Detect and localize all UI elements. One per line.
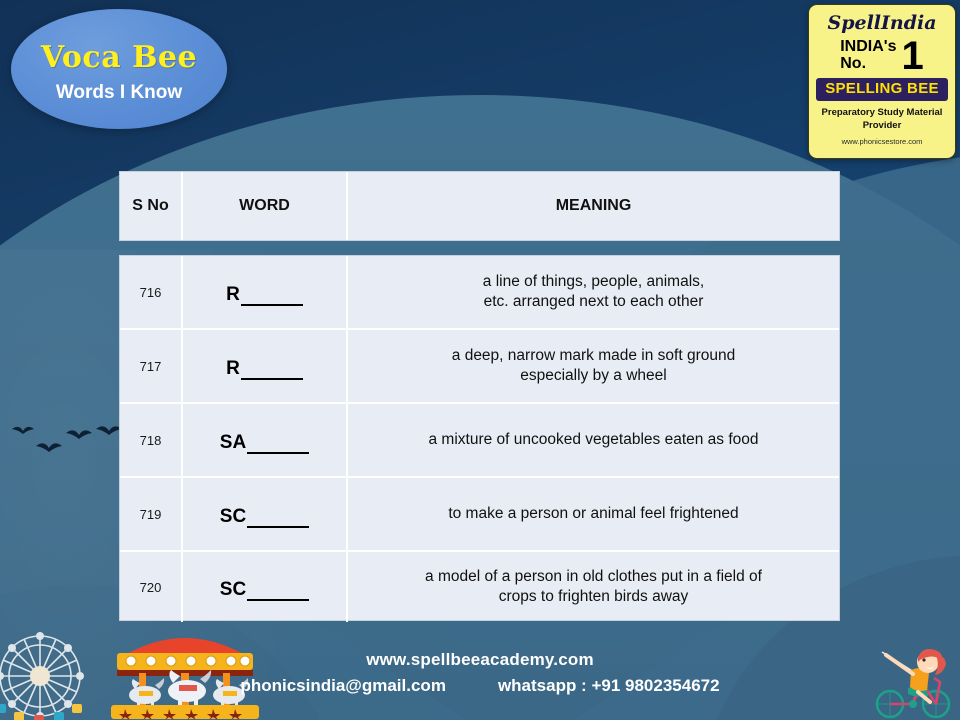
badge-indias: INDIA's: [840, 39, 896, 56]
word-prefix: SC: [220, 579, 246, 601]
footer: www.spellbeeacademy.com phonicsindia@gma…: [0, 650, 960, 696]
cell-sno: 720: [120, 552, 183, 622]
table-row: 716Ra line of things, people, animals,et…: [120, 256, 839, 330]
badge-url: www.phonicsestore.com: [842, 137, 923, 146]
meaning-line: especially by a wheel: [452, 366, 735, 386]
cell-meaning: to make a person or animal feel frighten…: [348, 478, 839, 550]
cell-word: SC: [183, 478, 348, 550]
meaning-line: etc. arranged next to each other: [483, 292, 704, 312]
badge-spelling-bee-banner: SPELLING BEE: [816, 78, 948, 101]
column-header-meaning: MEANING: [348, 172, 839, 240]
meaning-line: to make a person or animal feel frighten…: [448, 504, 738, 524]
table-row: 720SCa model of a person in old clothes …: [120, 552, 839, 622]
badge-no: No.: [840, 56, 896, 73]
logo-badge: Voca Bee Words I Know: [11, 9, 227, 129]
cell-meaning: a line of things, people, animals,etc. a…: [348, 256, 839, 328]
table-header: S No WORD MEANING: [119, 171, 840, 241]
badge-rank-label: INDIA's No.: [840, 39, 896, 73]
cell-word: R: [183, 256, 348, 328]
cell-word: R: [183, 330, 348, 402]
meaning-line: a deep, narrow mark made in soft ground: [452, 346, 735, 366]
meaning-line: crops to frighten birds away: [425, 587, 762, 607]
meaning-line: a line of things, people, animals,: [483, 272, 704, 292]
footer-whatsapp[interactable]: whatsapp : +91 9802354672: [498, 676, 720, 696]
table-row: 718SAa mixture of uncooked vegetables ea…: [120, 404, 839, 478]
word-prefix: R: [226, 284, 240, 306]
logo-title: Voca Bee: [41, 43, 197, 73]
column-header-sno: S No: [120, 172, 183, 240]
word-prefix: SC: [220, 506, 246, 528]
word-blank: [247, 512, 309, 528]
badge-prep-line1: Preparatory Study Material: [822, 107, 943, 120]
cell-word: SA: [183, 404, 348, 476]
word-blank: [247, 585, 309, 601]
table-row: 717Ra deep, narrow mark made in soft gro…: [120, 330, 839, 404]
word-blank: [247, 438, 309, 454]
cell-word: SC: [183, 552, 348, 622]
birds-icon: [10, 415, 125, 465]
table-body: 716Ra line of things, people, animals,et…: [119, 255, 840, 621]
column-header-word: WORD: [183, 172, 348, 240]
cell-meaning: a model of a person in old clothes put i…: [348, 552, 839, 622]
table-row: 719SCto make a person or animal feel fri…: [120, 478, 839, 552]
word-blank: [241, 364, 303, 380]
footer-email[interactable]: phonicsindia@gmail.com: [240, 676, 446, 696]
logo-subtitle: Words I Know: [56, 83, 182, 102]
badge-rank-group: INDIA's No. 1: [809, 39, 955, 73]
cell-sno: 716: [120, 256, 183, 328]
cell-sno: 718: [120, 404, 183, 476]
badge-spelling-bee-text: SPELLING BEE: [825, 80, 939, 97]
meaning-line: a mixture of uncooked vegetables eaten a…: [428, 430, 758, 450]
word-prefix: R: [226, 358, 240, 380]
badge-brand: SpellIndia: [827, 13, 936, 34]
badge-rank-number: 1: [902, 39, 924, 73]
badge-prep-line2: Provider: [822, 120, 943, 133]
footer-contact-line: phonicsindia@gmail.com whatsapp : +91 98…: [0, 676, 960, 696]
word-prefix: SA: [220, 432, 246, 454]
slide: Voca Bee Words I Know SpellIndia INDIA's…: [0, 0, 960, 720]
spellindia-badge: SpellIndia INDIA's No. 1 SPELLING BEE Pr…: [808, 4, 956, 159]
cell-meaning: a deep, narrow mark made in soft grounde…: [348, 330, 839, 402]
meaning-line: a model of a person in old clothes put i…: [425, 567, 762, 587]
badge-prep-text: Preparatory Study Material Provider: [822, 107, 943, 133]
cell-sno: 717: [120, 330, 183, 402]
word-blank: [241, 290, 303, 306]
cell-meaning: a mixture of uncooked vegetables eaten a…: [348, 404, 839, 476]
cell-sno: 719: [120, 478, 183, 550]
footer-website[interactable]: www.spellbeeacademy.com: [0, 650, 960, 670]
